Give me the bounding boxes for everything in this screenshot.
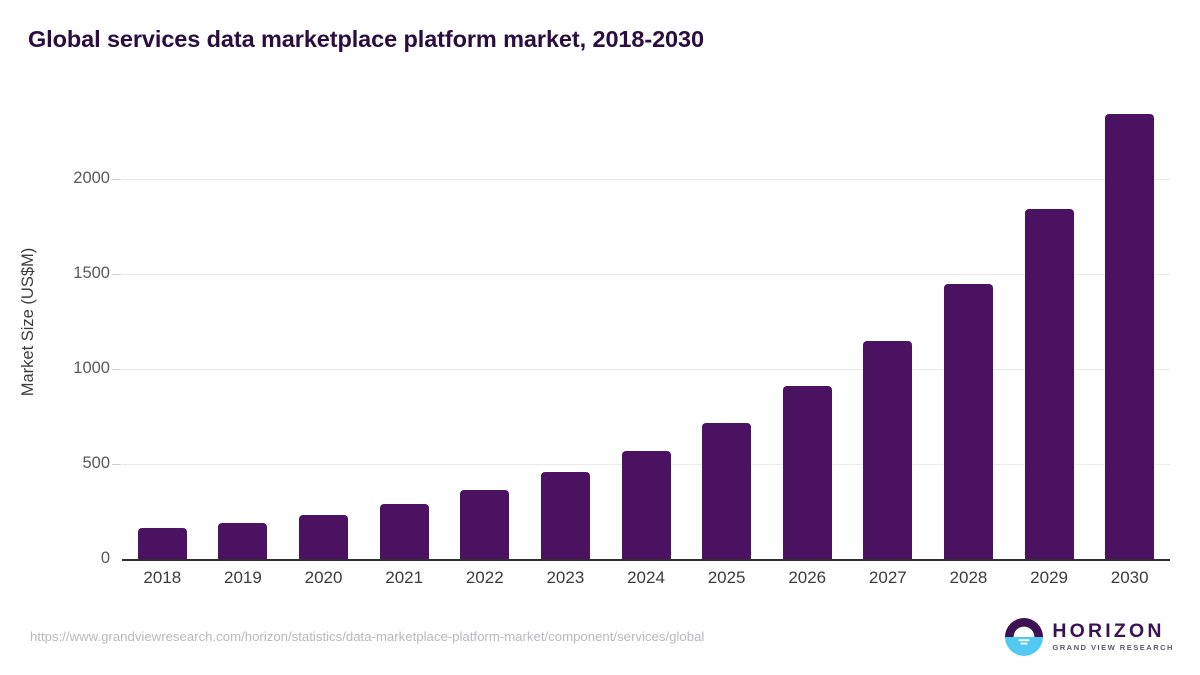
bar[interactable] <box>541 472 590 559</box>
bar[interactable] <box>622 451 671 559</box>
y-tick-mark <box>112 179 121 180</box>
bar[interactable] <box>863 341 912 559</box>
chart-canvas: Global services data marketplace platfor… <box>0 0 1200 675</box>
logo-tagline: GRAND VIEW RESEARCH <box>1052 644 1174 652</box>
source-url[interactable]: https://www.grandviewresearch.com/horizo… <box>30 629 704 644</box>
x-tick-labels-group: 2018201920202021202220232024202520262027… <box>122 568 1170 598</box>
bar[interactable] <box>1105 114 1154 559</box>
y-tick-label: 1500 <box>60 264 110 283</box>
bar[interactable] <box>702 423 751 559</box>
y-tick-label: 500 <box>60 454 110 473</box>
x-tick-label: 2030 <box>1089 568 1170 588</box>
horizon-logo-icon <box>1005 618 1043 656</box>
bar[interactable] <box>460 490 509 559</box>
x-axis-line <box>122 559 1170 561</box>
x-tick-label: 2020 <box>283 568 364 588</box>
x-tick-label: 2023 <box>525 568 606 588</box>
y-tick-mark <box>112 464 121 465</box>
logo-wordmark: HORIZON <box>1052 622 1174 642</box>
x-tick-label: 2029 <box>1009 568 1090 588</box>
bar[interactable] <box>218 523 267 559</box>
x-tick-label: 2021 <box>364 568 445 588</box>
bars-group <box>122 84 1170 559</box>
bar[interactable] <box>299 515 348 559</box>
bar[interactable] <box>380 504 429 559</box>
x-tick-label: 2022 <box>444 568 525 588</box>
bar[interactable] <box>783 386 832 559</box>
x-tick-label: 2025 <box>686 568 767 588</box>
horizon-logo-text: HORIZON GRAND VIEW RESEARCH <box>1052 622 1174 652</box>
y-tick-label: 1000 <box>60 359 110 378</box>
page-title: Global services data marketplace platfor… <box>28 26 704 53</box>
x-tick-label: 2027 <box>848 568 929 588</box>
bar[interactable] <box>138 528 187 559</box>
y-tick-mark <box>112 274 121 275</box>
y-tick-mark <box>112 369 121 370</box>
y-axis-title: Market Size (US$M) <box>19 247 38 396</box>
y-tick-label: 0 <box>60 549 110 568</box>
bar[interactable] <box>944 284 993 560</box>
horizon-logo[interactable]: HORIZON GRAND VIEW RESEARCH <box>1005 616 1174 658</box>
x-tick-label: 2026 <box>767 568 848 588</box>
bar[interactable] <box>1025 209 1074 559</box>
x-tick-label: 2024 <box>606 568 687 588</box>
x-tick-label: 2018 <box>122 568 203 588</box>
x-tick-label: 2028 <box>928 568 1009 588</box>
x-tick-label: 2019 <box>203 568 284 588</box>
y-tick-label: 2000 <box>60 169 110 188</box>
